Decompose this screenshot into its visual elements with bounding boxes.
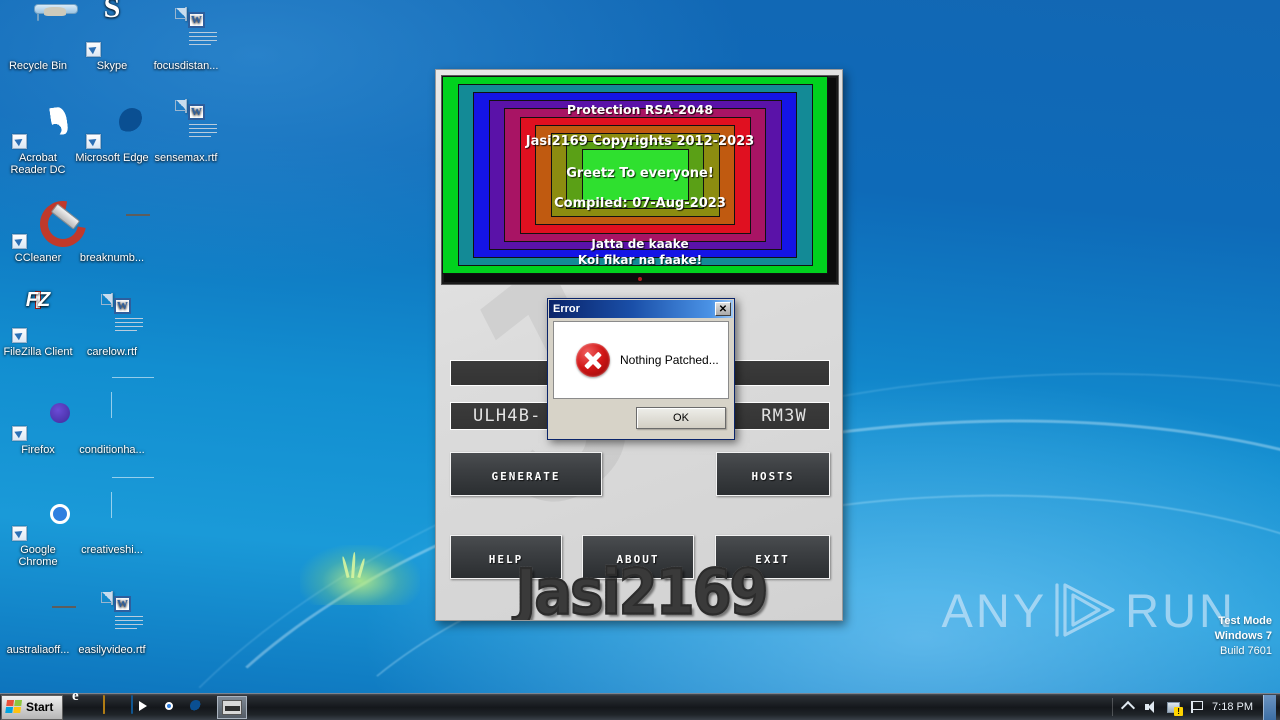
clock[interactable]: 7:18 PM — [1212, 701, 1253, 713]
desktop-icon-label: focusdistan... — [148, 60, 224, 72]
edge-icon — [88, 100, 136, 148]
banner-line-jatta: Jatta de kaake — [591, 237, 688, 251]
banner-line-koifikar: Koi fikar na faake! — [578, 253, 702, 267]
windows-explorer-icon — [103, 695, 105, 714]
dialog-message: Nothing Patched... — [620, 353, 719, 367]
banner-text: Protection RSA-2048 Jasi2169 Copyrights … — [442, 76, 838, 284]
faint-lines-icon — [88, 392, 136, 440]
desktop-icon-label: CCleaner — [0, 252, 76, 264]
taskbar-media-player[interactable] — [131, 696, 153, 718]
dialog-title-text: Error — [553, 303, 580, 315]
generate-button-label: generate — [492, 465, 561, 484]
desktop-icon-label: easilyvideo.rtf — [74, 644, 150, 656]
anyrun-watermark: ANY RUN — [942, 579, 1236, 641]
desktop-icon-label: sensemax.rtf — [148, 152, 224, 164]
filezilla-icon — [14, 294, 62, 342]
serial-value-right: RM3W — [761, 406, 807, 426]
dialog-titlebar[interactable]: Error ✕ — [549, 300, 733, 318]
desktop-icon-label: breaknumb... — [74, 252, 150, 264]
word-doc-icon: W — [162, 8, 210, 56]
hosts-button-label: hosts — [751, 465, 794, 484]
banner-line-compiled: Compiled: 07-Aug-2023 — [554, 196, 726, 211]
taskbar-item-keygen[interactable] — [217, 696, 247, 719]
anyrun-text-left: ANY — [942, 583, 1048, 638]
start-button[interactable]: Start — [1, 695, 63, 720]
desktop-icon-label: conditionha... — [74, 444, 150, 456]
hosts-button[interactable]: hosts — [716, 452, 830, 496]
banner-line-greetz: Greetz To everyone! — [566, 166, 714, 181]
word-doc-icon: W — [88, 592, 136, 640]
quick-launch-bar — [75, 696, 209, 718]
network-warning-icon[interactable] — [1166, 699, 1182, 715]
black-thumb-icon — [88, 200, 136, 248]
desktop-icon-microsoft-edge[interactable]: Microsoft Edge — [74, 100, 150, 164]
faint-lines-icon — [88, 492, 136, 540]
volume-icon[interactable] — [1143, 699, 1159, 715]
action-center-flag-icon[interactable] — [1189, 699, 1205, 715]
os-name-line: Windows 7 — [1215, 629, 1272, 644]
desktop-icon-label: australiaoff... — [0, 644, 76, 656]
desktop-icon-label: FileZilla Client — [0, 346, 76, 358]
desktop-icon-recycle-bin[interactable]: Recycle Bin — [0, 8, 76, 72]
desktop-icon-label: Recycle Bin — [0, 60, 76, 72]
taskbar-microsoft-edge[interactable] — [187, 696, 209, 718]
desktop-icon-ccleaner[interactable]: CCleaner — [0, 200, 76, 264]
test-mode-line: Test Mode — [1215, 614, 1272, 629]
shortcut-arrow-icon — [12, 526, 27, 541]
desktop-icon-easilyvideo-rtf[interactable]: Weasilyvideo.rtf — [74, 592, 150, 656]
desktop-icon-google-chrome[interactable]: Google Chrome — [0, 492, 76, 568]
dialog-body: Nothing Patched... — [553, 321, 729, 399]
desktop-icon-filezilla-client[interactable]: FileZilla Client — [0, 294, 76, 358]
chrome-icon — [14, 492, 62, 540]
shortcut-arrow-icon — [12, 328, 27, 343]
error-dialog[interactable]: Error ✕ Nothing Patched... OK — [547, 298, 735, 440]
system-tray: 7:18 PM — [1112, 695, 1280, 720]
anyrun-play-icon — [1051, 579, 1121, 641]
desktop-icon-firefox[interactable]: Firefox — [0, 392, 76, 456]
start-button-label: Start — [26, 700, 53, 714]
desktop-icon-australiaoff-[interactable]: australiaoff... — [0, 592, 76, 656]
media-player-icon — [131, 695, 133, 714]
desktop-icon-label: Skype — [74, 60, 150, 72]
show-desktop-button[interactable] — [1263, 695, 1276, 720]
word-doc-icon: W — [88, 294, 136, 342]
desktop-icon-sensemax-rtf[interactable]: Wsensemax.rtf — [148, 100, 224, 164]
firefox-icon — [14, 392, 62, 440]
windows-logo-icon — [5, 700, 23, 715]
desktop-icon-label: creativeshi... — [74, 544, 150, 556]
test-mode-watermark: Test Mode Windows 7 Build 7601 — [1215, 614, 1272, 659]
desktop-icon-carelow-rtf[interactable]: Wcarelow.rtf — [74, 294, 150, 358]
desktop-icon-label: Google Chrome — [0, 544, 76, 568]
tray-divider — [1112, 698, 1113, 716]
shortcut-arrow-icon — [12, 134, 27, 149]
skype-icon — [88, 8, 136, 56]
shortcut-arrow-icon — [12, 426, 27, 441]
taskbar-windows-explorer[interactable] — [103, 696, 125, 718]
recycle-bin-icon — [14, 8, 62, 56]
desktop-icon-label: carelow.rtf — [74, 346, 150, 358]
desktop-icon-label: Firefox — [0, 444, 76, 456]
banner-line-protection: Protection RSA-2048 — [567, 102, 713, 117]
banner-screen: Protection RSA-2048 Jasi2169 Copyrights … — [441, 75, 839, 285]
error-x-icon — [576, 343, 610, 377]
ok-button[interactable]: OK — [636, 407, 726, 429]
desktop-icon-skype[interactable]: Skype — [74, 8, 150, 72]
banner-line-copyright: Jasi2169 Copyrights 2012-2023 — [526, 134, 754, 149]
ccleaner-icon — [14, 200, 62, 248]
desktop-icon-acrobat-reader-dc[interactable]: Acrobat Reader DC — [0, 100, 76, 176]
desktop-icon-label: Microsoft Edge — [74, 152, 150, 164]
close-icon[interactable]: ✕ — [715, 302, 731, 316]
desktop-icon-label: Acrobat Reader DC — [0, 152, 76, 176]
shortcut-arrow-icon — [86, 134, 101, 149]
black-thumb-icon — [14, 592, 62, 640]
desktop-icon-breaknumb-[interactable]: breaknumb... — [74, 200, 150, 264]
acrobat-icon — [14, 100, 62, 148]
shortcut-arrow-icon — [86, 42, 101, 57]
shortcut-arrow-icon — [12, 234, 27, 249]
taskbar[interactable]: Start 7:18 PM — [0, 693, 1280, 720]
taskbar-google-chrome[interactable] — [159, 696, 181, 718]
generate-button[interactable]: generate — [450, 452, 602, 496]
desktop-icon-creativeshi-[interactable]: creativeshi... — [74, 492, 150, 556]
jasi2169-logo: Jasi2169 — [486, 556, 796, 621]
desktop-icon-focusdistan-[interactable]: Wfocusdistan... — [148, 8, 224, 72]
desktop[interactable]: Recycle BinSkypeWfocusdistan...Acrobat R… — [0, 0, 1280, 693]
desktop-icon-conditionha-[interactable]: conditionha... — [74, 392, 150, 456]
serial-value-left: ULH4B- — [473, 406, 542, 426]
word-doc-icon: W — [162, 100, 210, 148]
taskbar-internet-explorer[interactable] — [75, 696, 97, 718]
keygen-window-icon — [222, 700, 242, 715]
show-hidden-icons-icon[interactable] — [1120, 699, 1136, 715]
build-number-line: Build 7601 — [1215, 644, 1272, 659]
